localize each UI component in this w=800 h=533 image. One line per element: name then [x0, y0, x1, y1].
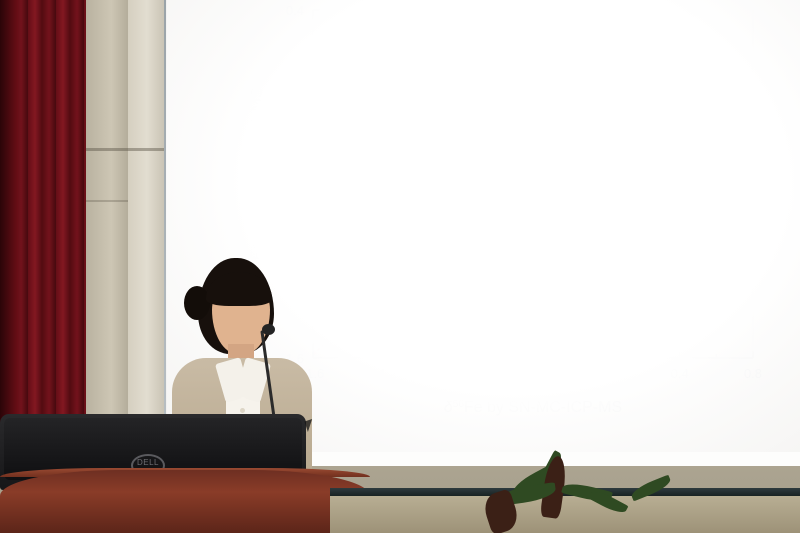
- x-tick-label: -0.4: [522, 366, 544, 381]
- y-tick-label: 0.4: [286, 3, 304, 18]
- plant-leaf: [629, 475, 672, 502]
- leader-line: [557, 136, 603, 176]
- leader-line: [531, 165, 581, 219]
- wooden-podium: [0, 470, 370, 533]
- x-tick-label: -0.8: [448, 366, 470, 381]
- y-tick-label: 0.0: [286, 73, 304, 88]
- dell-brand-text: DELL: [131, 458, 165, 467]
- point-label: PZH12-16 ilmenite: [374, 109, 478, 123]
- leader-line: [603, 98, 635, 132]
- x-axis-title: δ56Fe by SN-MC-ICP-MS: [444, 399, 622, 417]
- screen-left-edge: [164, 0, 167, 452]
- microphone-icon: [262, 324, 275, 335]
- stats-box: Slope = 0.99±0.11 (2σ)Intercept = 0.003±…: [538, 250, 750, 318]
- wall-column-left: [86, 0, 128, 440]
- marker-circle: [597, 92, 608, 103]
- stats-line: Slope = 0.99±0.11 (2σ): [546, 258, 694, 274]
- shirt-button: [240, 408, 245, 413]
- point-label: PZH12-24 ilmenite: [593, 212, 697, 226]
- point-label: PZH12-18 ilmenite: [615, 169, 719, 183]
- potted-plant: [470, 452, 670, 533]
- marker-square: [564, 112, 574, 122]
- point-label: Moosilauke ilmenite: [408, 66, 518, 80]
- stats-line: Intercept = 0.003±0.068: [546, 277, 699, 293]
- wall-seam-secondary: [86, 200, 128, 202]
- point-label: Balmat pyrite: [414, 333, 487, 347]
- point-label: IRMM-524A: [647, 125, 714, 139]
- x-tick-label: -1.2: [375, 366, 397, 381]
- x-tick-label: 0.0: [597, 366, 615, 381]
- scatter-plot-svg: -1.6-1.2-0.8-0.40.00.40.80.40.0-0.4-0.8-…: [240, 0, 780, 420]
- x-tick-label: 0.8: [744, 366, 762, 381]
- y-tick-label: -0.8: [282, 212, 304, 227]
- confidence-band: [313, 0, 753, 397]
- curtain-shadow: [0, 0, 18, 430]
- screenshot-stage: -1.6-1.2-0.8-0.40.00.40.80.40.0-0.4-0.8-…: [0, 0, 800, 533]
- slide-chart: -1.6-1.2-0.8-0.40.00.40.80.40.0-0.4-0.8-…: [240, 0, 780, 420]
- y-tick-label: -0.4: [282, 142, 304, 157]
- wall-column-right: [128, 0, 166, 440]
- wall-seam: [86, 148, 166, 151]
- x-tick-label: 0.4: [671, 366, 689, 381]
- y-axis-title: δ56Fe by fs LA-MC-ICP-MS: [249, 88, 267, 280]
- point-label: NKAu01 pyrite: [536, 4, 617, 18]
- stats-line: MSWD = 0.13: [546, 296, 637, 312]
